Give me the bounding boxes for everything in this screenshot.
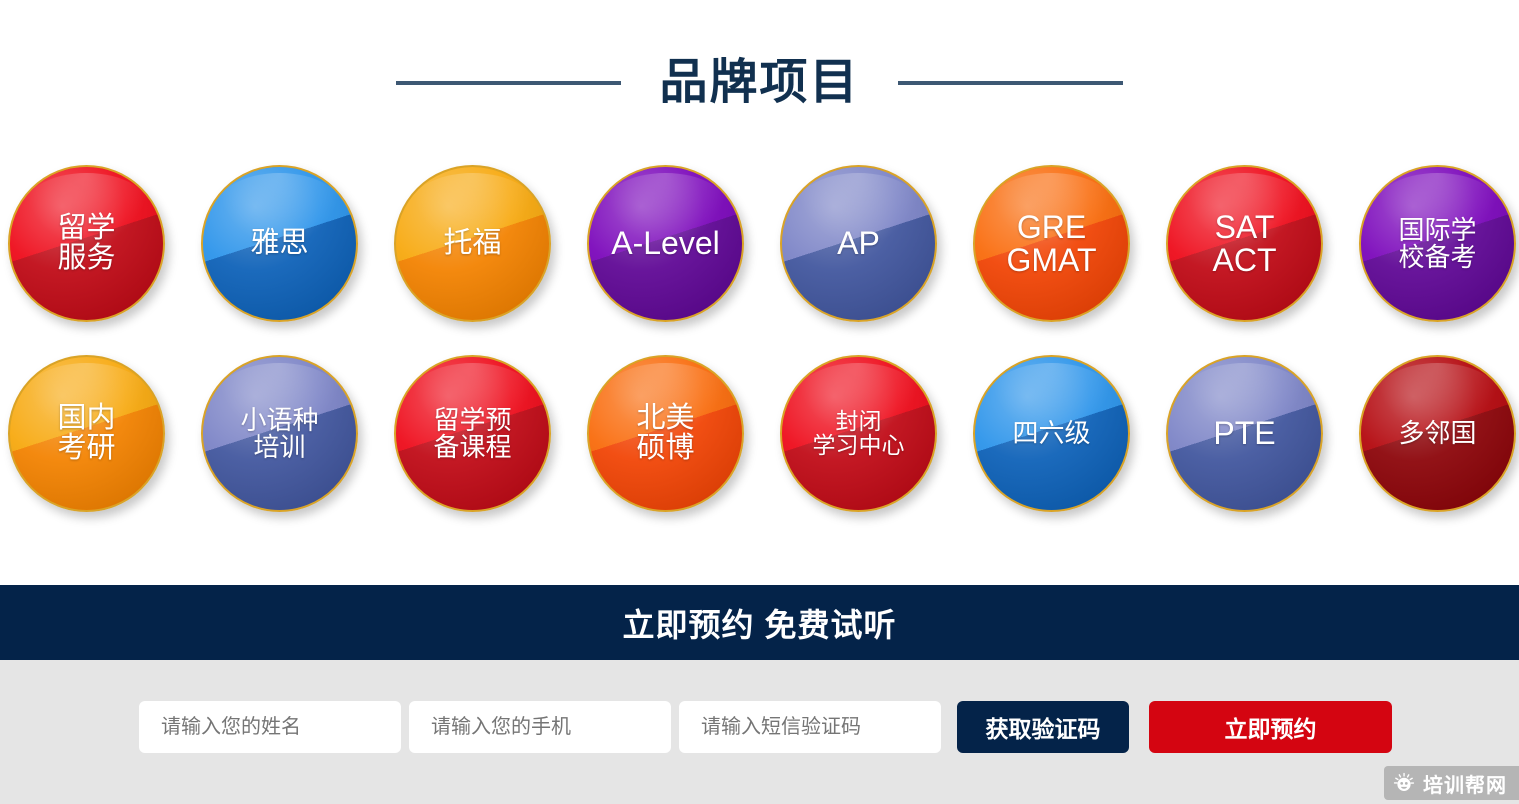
program-bubble[interactable]: 雅思 xyxy=(201,165,358,322)
program-bubble[interactable]: 国内 考研 xyxy=(8,355,165,512)
phone-input[interactable] xyxy=(409,701,671,753)
cta-banner: 立即预约 免费试听 xyxy=(0,585,1519,660)
program-bubble[interactable]: 多邻国 xyxy=(1359,355,1516,512)
program-bubble[interactable]: AP xyxy=(780,165,937,322)
program-bubble[interactable]: SAT ACT xyxy=(1166,165,1323,322)
program-grid: 留学 服务雅思托福A-LevelAPGRE GMATSAT ACT国际学 校备考… xyxy=(0,165,1519,512)
program-bubble[interactable]: GRE GMAT xyxy=(973,165,1130,322)
sms-code-input[interactable] xyxy=(679,701,941,753)
sun-face-icon xyxy=(1393,772,1415,794)
program-bubble[interactable]: 四六级 xyxy=(973,355,1130,512)
program-row-2: 国内 考研小语种 培训留学预 备课程北美 硕博封闭 学习中心四六级PTE多邻国 xyxy=(0,355,1519,512)
program-bubble-label: GRE GMAT xyxy=(1000,211,1102,276)
program-bubble-label: 四六级 xyxy=(1006,420,1096,447)
booking-form: 获取验证码 立即预约 xyxy=(139,701,1392,753)
program-bubble[interactable]: 小语种 培训 xyxy=(201,355,358,512)
site-watermark: 培训帮网 xyxy=(1384,766,1519,800)
page-title: 品牌项目 xyxy=(659,59,859,107)
submit-booking-button[interactable]: 立即预约 xyxy=(1149,701,1392,753)
program-bubble-label: 小语种 培训 xyxy=(234,407,324,460)
program-bubble-label: AP xyxy=(831,227,886,260)
program-bubble[interactable]: 北美 硕博 xyxy=(587,355,744,512)
program-bubble[interactable]: 封闭 学习中心 xyxy=(780,355,937,512)
program-bubble-label: 托福 xyxy=(437,229,507,259)
program-bubble-label: PTE xyxy=(1207,417,1281,450)
program-bubble[interactable]: 国际学 校备考 xyxy=(1359,165,1516,322)
program-bubble[interactable]: A-Level xyxy=(587,165,744,322)
title-rule-right xyxy=(898,81,1123,85)
name-input[interactable] xyxy=(139,701,401,753)
booking-form-strip: 获取验证码 立即预约 xyxy=(0,660,1519,804)
program-bubble[interactable]: 留学预 备课程 xyxy=(394,355,551,512)
program-bubble-label: 国际学 校备考 xyxy=(1392,217,1482,270)
get-sms-code-button[interactable]: 获取验证码 xyxy=(957,701,1129,753)
program-bubble-label: 封闭 学习中心 xyxy=(807,410,911,457)
program-bubble-label: 国内 考研 xyxy=(51,404,121,463)
title-rule-left xyxy=(396,81,621,85)
program-bubble-label: 北美 硕博 xyxy=(630,404,700,463)
cta-headline: 立即预约 免费试听 xyxy=(623,600,897,646)
program-bubble[interactable]: 留学 服务 xyxy=(8,165,165,322)
program-bubble-label: 多邻国 xyxy=(1392,420,1482,447)
program-bubble-label: 留学 服务 xyxy=(51,214,121,273)
program-bubble-label: SAT ACT xyxy=(1207,211,1283,276)
program-row-1: 留学 服务雅思托福A-LevelAPGRE GMATSAT ACT国际学 校备考 xyxy=(0,165,1519,322)
program-bubble-label: 雅思 xyxy=(244,229,314,259)
program-bubble[interactable]: 托福 xyxy=(394,165,551,322)
program-bubble-label: A-Level xyxy=(605,227,726,260)
watermark-text: 培训帮网 xyxy=(1423,769,1507,798)
program-bubble[interactable]: PTE xyxy=(1166,355,1323,512)
program-bubble-label: 留学预 备课程 xyxy=(427,407,517,460)
section-header: 品牌项目 xyxy=(0,0,1519,165)
